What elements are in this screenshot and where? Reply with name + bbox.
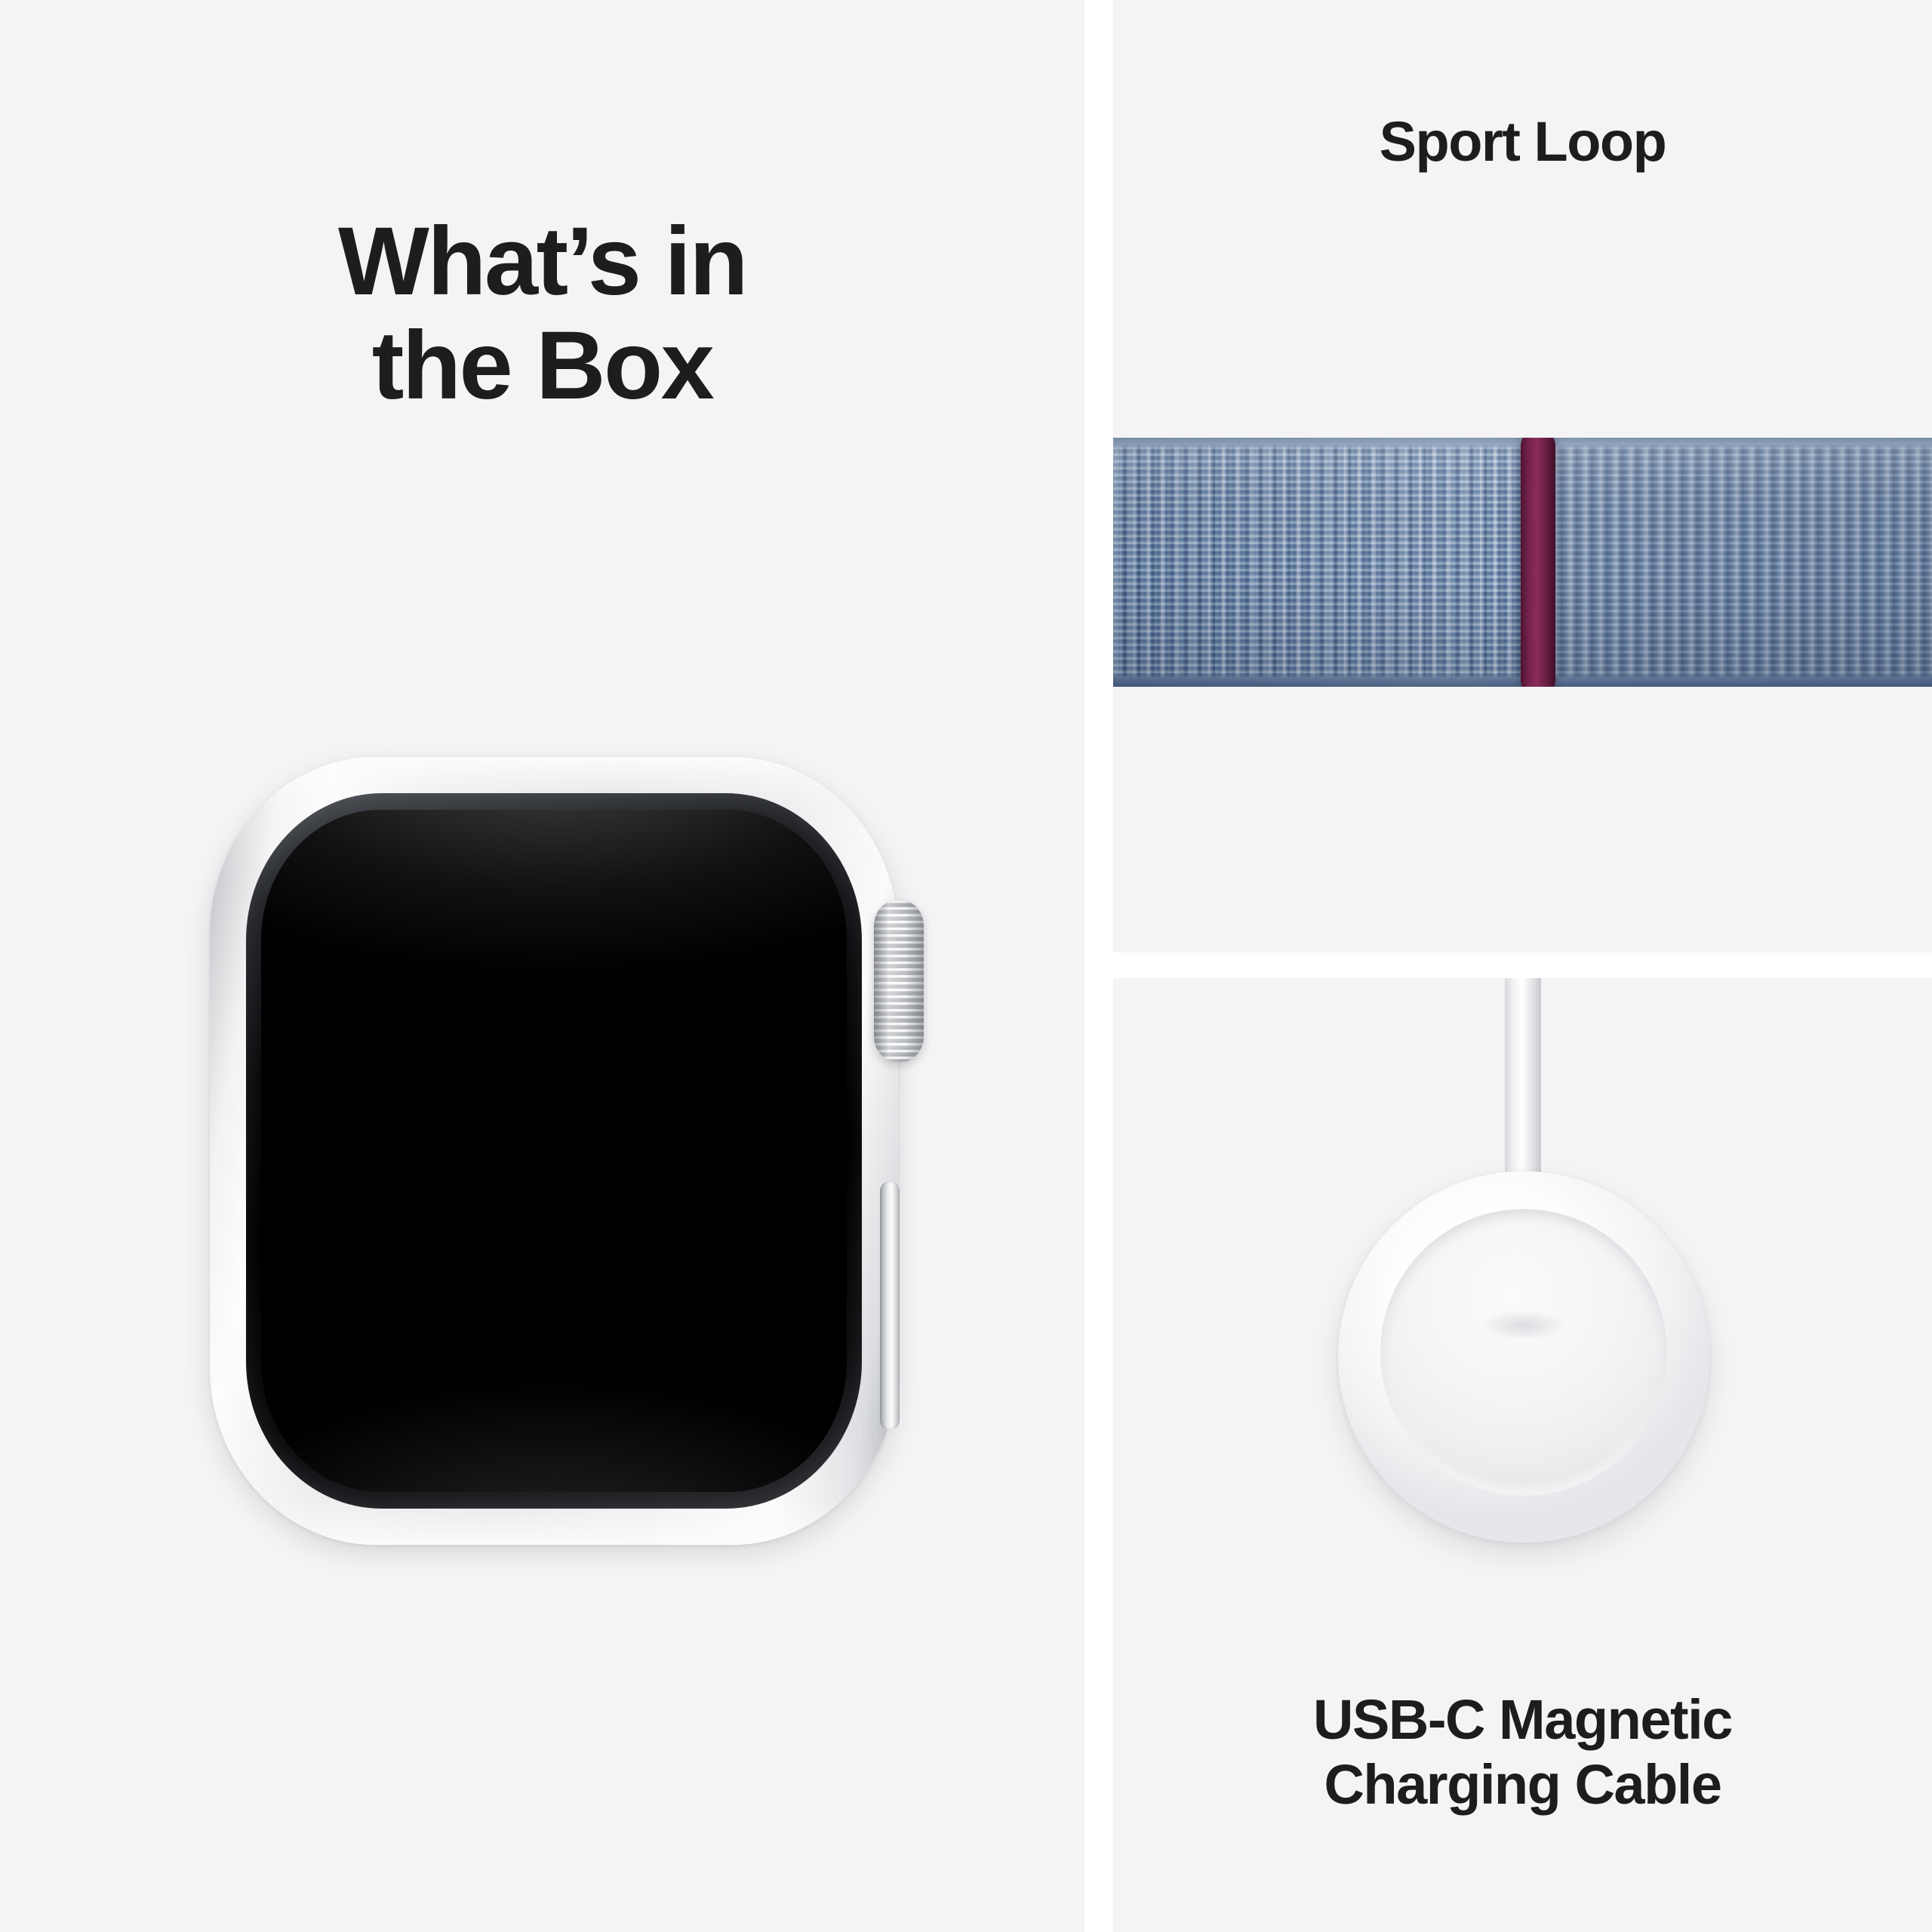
band-hook-side-texture [1113,438,1524,687]
charging-puck-cable-shadow [1480,1310,1566,1340]
panel-sport-loop: Sport Loop [1113,0,1932,952]
product-whats-in-the-box-layout: What’s in the Box Sport Loop [0,0,1932,1932]
band-burgundy-closure-tab [1521,438,1555,687]
charging-puck-inner-face [1380,1209,1667,1496]
charging-cable-title: USB-C Magnetic Charging Cable [1113,1687,1932,1817]
digital-crown-shading [874,900,924,1062]
apple-watch-image [204,751,906,1551]
watch-display-screen [261,810,847,1492]
page-title-line-1: What’s in [0,210,1084,314]
page-title-line-2: the Box [0,314,1084,418]
sport-loop-band-image [1113,438,1932,687]
sport-loop-title: Sport Loop [1113,112,1932,172]
charging-cable-title-line-1: USB-C Magnetic [1113,1687,1932,1752]
charging-cable-title-line-2: Charging Cable [1113,1752,1932,1817]
panel-charging-cable: USB-C Magnetic Charging Cable [1113,978,1932,1932]
side-button[interactable] [880,1181,900,1430]
charging-cable-cord [1505,978,1541,1204]
panel-whats-in-the-box: What’s in the Box [0,0,1084,1932]
digital-crown[interactable] [874,900,924,1062]
page-title: What’s in the Box [0,210,1084,418]
